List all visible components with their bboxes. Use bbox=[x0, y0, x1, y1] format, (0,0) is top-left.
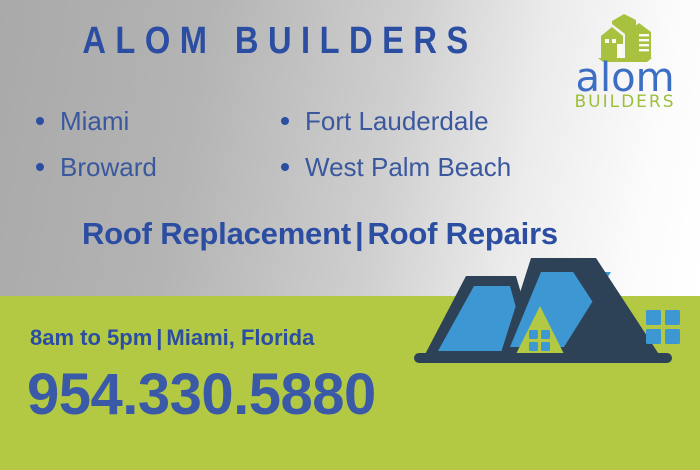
services-tagline: Roof Replacement|Roof Repairs bbox=[0, 216, 640, 252]
business-location: Miami, Florida bbox=[166, 325, 314, 350]
services-separator: | bbox=[351, 216, 367, 251]
service-secondary: Roof Repairs bbox=[367, 216, 558, 251]
hours-and-location: 8am to 5pm|Miami, Florida bbox=[30, 325, 314, 351]
list-item: Broward bbox=[36, 144, 157, 190]
bullet-dot-icon bbox=[36, 163, 44, 171]
service-area-label: Miami bbox=[60, 106, 129, 137]
page-title: ALOM BUILDERS bbox=[39, 20, 521, 63]
bullet-dot-icon bbox=[281, 163, 289, 171]
list-item: Miami bbox=[36, 98, 157, 144]
ad-banner: ALOM BUILDERS bbox=[0, 0, 700, 470]
service-primary: Roof Replacement bbox=[82, 216, 351, 251]
company-logo: alom BUILDERS bbox=[565, 14, 685, 110]
logo-subtext: BUILDERS bbox=[565, 94, 685, 111]
bullet-dot-icon bbox=[281, 117, 289, 125]
service-area-column-left: Miami Broward bbox=[36, 98, 157, 190]
list-item: West Palm Beach bbox=[281, 144, 511, 190]
business-hours: 8am to 5pm bbox=[30, 325, 152, 350]
service-area-label: West Palm Beach bbox=[305, 152, 511, 183]
roof-houses-illustration bbox=[400, 250, 700, 370]
service-area-label: Fort Lauderdale bbox=[305, 106, 489, 137]
bullet-dot-icon bbox=[36, 117, 44, 125]
hours-separator: | bbox=[152, 325, 166, 350]
service-area-label: Broward bbox=[60, 152, 157, 183]
window-pane-icon bbox=[646, 310, 680, 344]
list-item: Fort Lauderdale bbox=[281, 98, 511, 144]
phone-number[interactable]: 954.330.5880 bbox=[27, 361, 376, 428]
service-area-column-right: Fort Lauderdale West Palm Beach bbox=[281, 98, 511, 190]
